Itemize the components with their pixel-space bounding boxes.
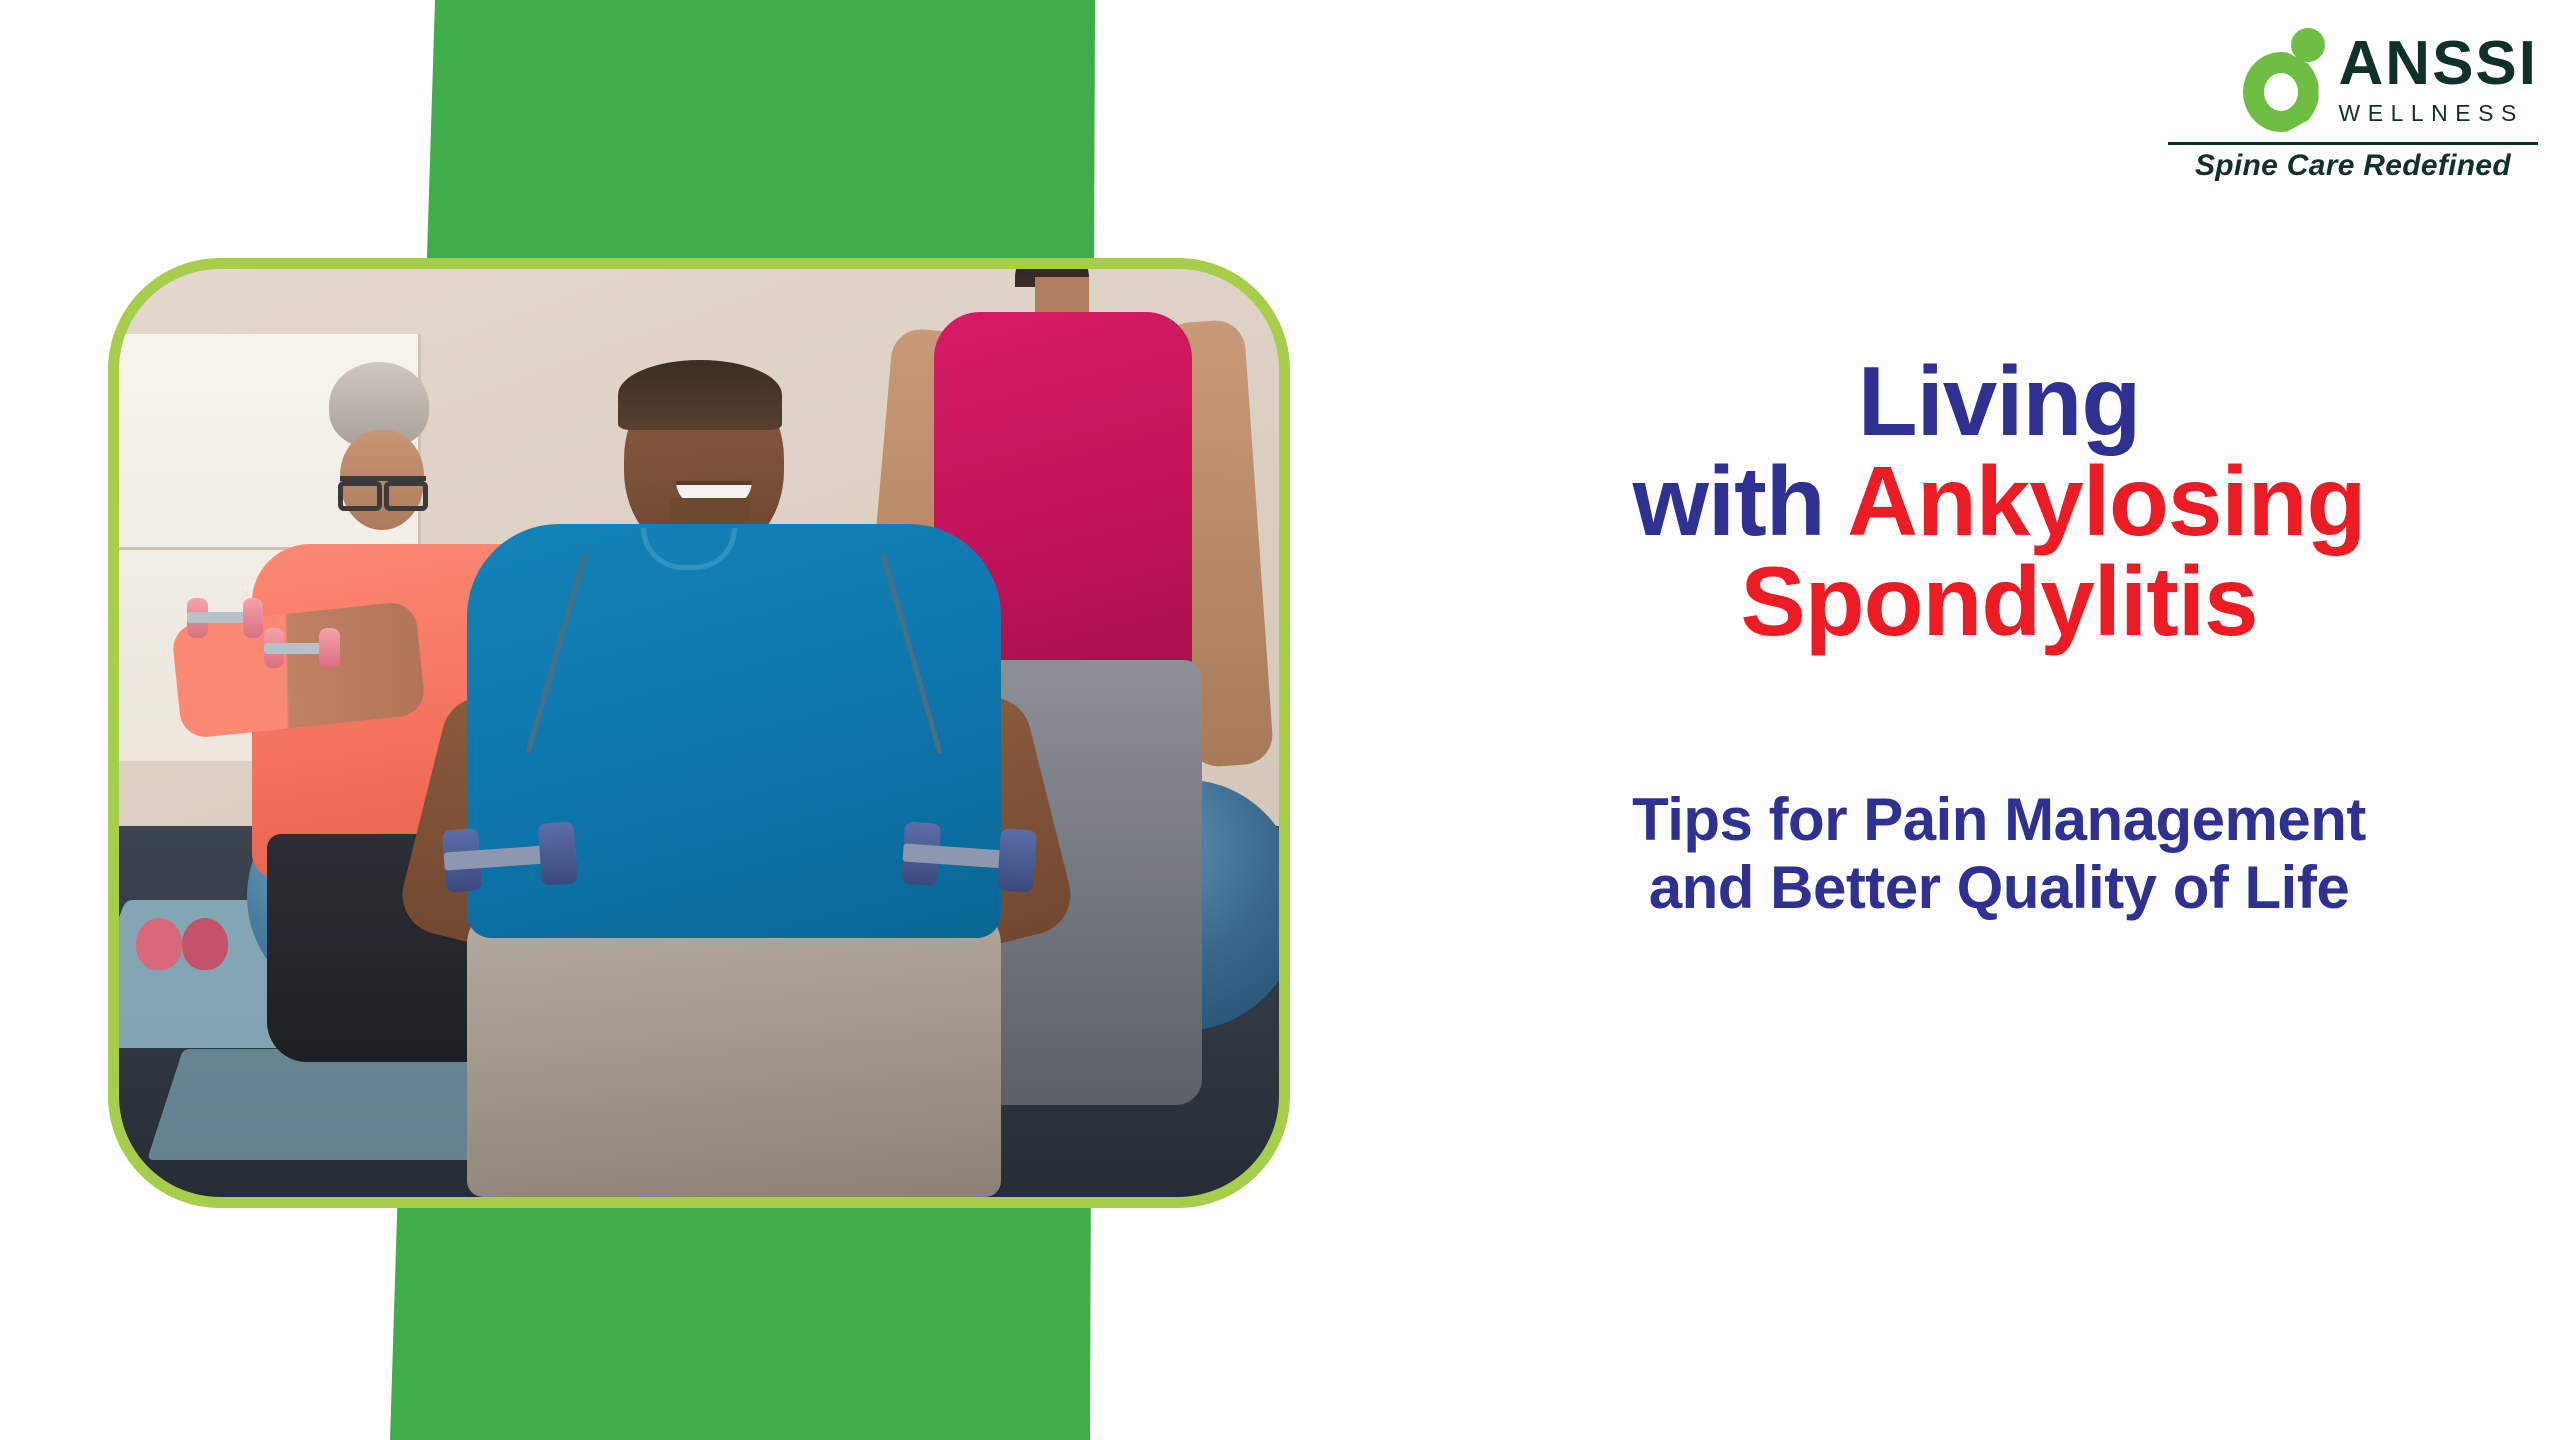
kettlebell-icon-1 — [136, 918, 182, 970]
banner-root: ANSSI WELLNESS Spine Care Redefined Livi… — [0, 0, 2560, 1440]
pink-dumbbell-2 — [264, 628, 340, 668]
logo-wordmark: ANSSI WELLNESS — [2339, 35, 2538, 126]
subhead-line-1: Tips for Pain Management — [1460, 786, 2538, 854]
navy-dumbbell-right — [901, 821, 1037, 892]
hero-photo — [119, 269, 1279, 1197]
logo-crescent-icon — [2243, 52, 2319, 132]
subhead-line-2: and Better Quality of Life — [1460, 854, 2538, 922]
person-seated-man — [444, 334, 1024, 1197]
headline-line-2-navy: with — [1633, 446, 1848, 556]
headline-line-3: Spondylitis — [1460, 552, 2538, 652]
pink-dumbbell-1 — [187, 598, 263, 638]
page-subtitle: Tips for Pain Management and Better Qual… — [1460, 786, 2538, 923]
man-hair — [618, 360, 782, 430]
content-column: ANSSI WELLNESS Spine Care Redefined Livi… — [1460, 0, 2560, 1440]
crescent-mark-icon — [2243, 28, 2329, 134]
anssi-wellness-logo[interactable]: ANSSI WELLNESS Spine Care Redefined — [2168, 28, 2538, 183]
headline-line-2-red: Ankylosing — [1847, 446, 2365, 556]
logo-divider — [2168, 142, 2538, 145]
logo-tagline: Spine Care Redefined — [2168, 149, 2538, 183]
logo-dot-icon — [2291, 28, 2325, 62]
logo-top-row: ANSSI WELLNESS — [2168, 28, 2538, 134]
headline-line-2: with Ankylosing — [1460, 452, 2538, 552]
man-khaki-pants — [467, 904, 1001, 1197]
logo-brand-name: ANSSI — [2339, 35, 2538, 93]
eyeglasses-icon — [340, 476, 426, 496]
gym-scene-illustration — [119, 269, 1279, 1197]
navy-dumbbell-left — [442, 821, 578, 892]
kettlebell-icon-2 — [182, 918, 228, 970]
hero-photo-card — [108, 258, 1290, 1208]
logo-brand-subname: WELLNESS — [2339, 100, 2538, 127]
page-title: Living with Ankylosing Spondylitis — [1460, 352, 2538, 652]
headline-line-1: Living — [1460, 352, 2538, 452]
